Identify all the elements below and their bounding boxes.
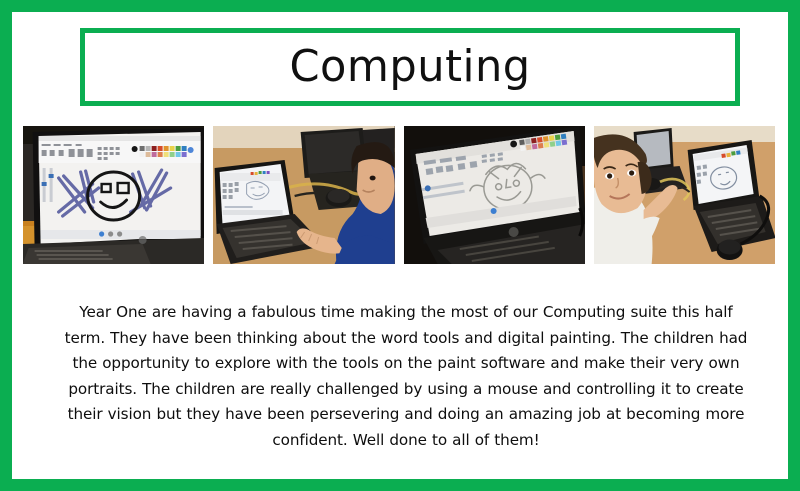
photo-child-using-laptop-trackpad — [213, 126, 394, 264]
computing-poster: Computing — [0, 0, 800, 491]
photo-gallery — [23, 126, 775, 264]
title-box: Computing — [80, 28, 740, 106]
photo-laptop-paint-face-drawing — [23, 126, 204, 264]
photo-child-looking-at-camera-with-laptops — [594, 126, 775, 264]
page-title: Computing — [289, 45, 530, 89]
body-paragraph: Year One are having a fabulous time maki… — [60, 300, 752, 454]
photo-laptop-screen-paint-portrait — [404, 126, 585, 264]
